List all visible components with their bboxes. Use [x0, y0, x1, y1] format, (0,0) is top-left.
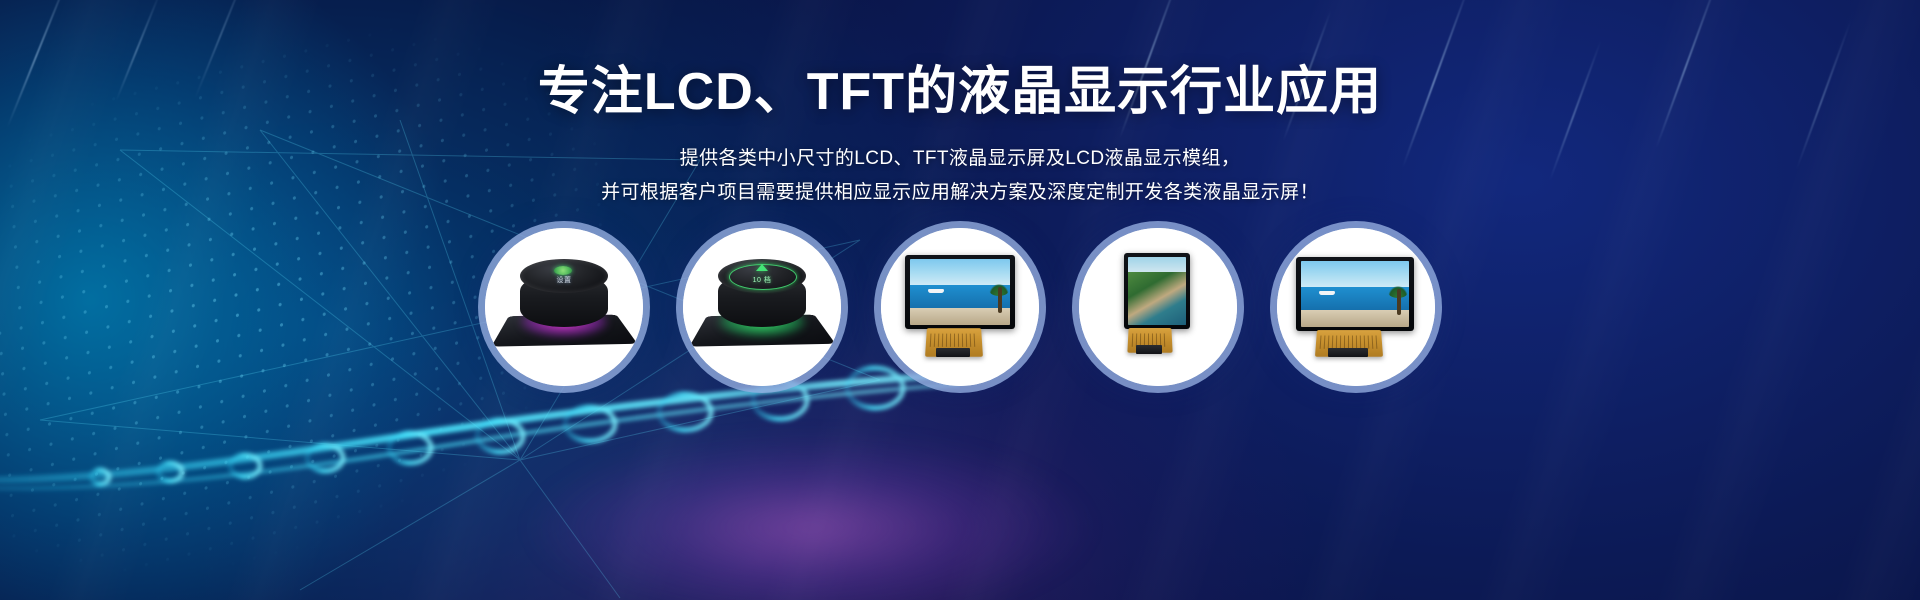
product-image-green-speaker: 10 档	[683, 228, 841, 386]
lcd-tft-display-panel-icon	[1292, 249, 1420, 365]
product-circle-3[interactable]	[881, 228, 1039, 386]
round-smart-speaker-purple-glow-icon: 设置	[498, 251, 630, 363]
product-image-lcd-panel-landscape	[1079, 228, 1237, 386]
speaker-display-text: 10 档	[734, 275, 790, 285]
product-circle-4[interactable]	[1079, 228, 1237, 386]
product-circle-2[interactable]: 10 档	[683, 228, 841, 386]
product-circle-1[interactable]: 设置	[485, 228, 643, 386]
round-smart-speaker-green-glow-icon: 10 档	[696, 251, 828, 363]
lcd-tft-display-panel-icon	[896, 249, 1024, 365]
subtitle-line-1: 提供各类中小尺寸的LCD、TFT液晶显示屏及LCD液晶显示模组，	[0, 142, 1920, 176]
hero-banner: 专注LCD、TFT的液晶显示行业应用 提供各类中小尺寸的LCD、TFT液晶显示屏…	[0, 0, 1920, 600]
speaker-display-text: 设置	[536, 275, 592, 285]
product-circle-5[interactable]	[1277, 228, 1435, 386]
banner-text-block: 专注LCD、TFT的液晶显示行业应用 提供各类中小尺寸的LCD、TFT液晶显示屏…	[0, 62, 1920, 210]
lcd-tft-display-panel-icon	[1094, 249, 1222, 365]
product-circle-row: 设置 10 档	[0, 228, 1920, 386]
subtitle-line-2: 并可根据客户项目需要提供相应显示应用解决方案及深度定制开发各类液晶显示屏！	[0, 176, 1920, 210]
magenta-bloom	[430, 390, 1190, 600]
page-title: 专注LCD、TFT的液晶显示行业应用	[0, 62, 1920, 123]
banner-subtitle: 提供各类中小尺寸的LCD、TFT液晶显示屏及LCD液晶显示模组， 并可根据客户项…	[0, 142, 1920, 210]
product-image-lcd-panel-wide-beach	[1277, 228, 1435, 386]
product-image-lcd-panel-beach	[881, 228, 1039, 386]
product-image-purple-speaker: 设置	[485, 228, 643, 386]
